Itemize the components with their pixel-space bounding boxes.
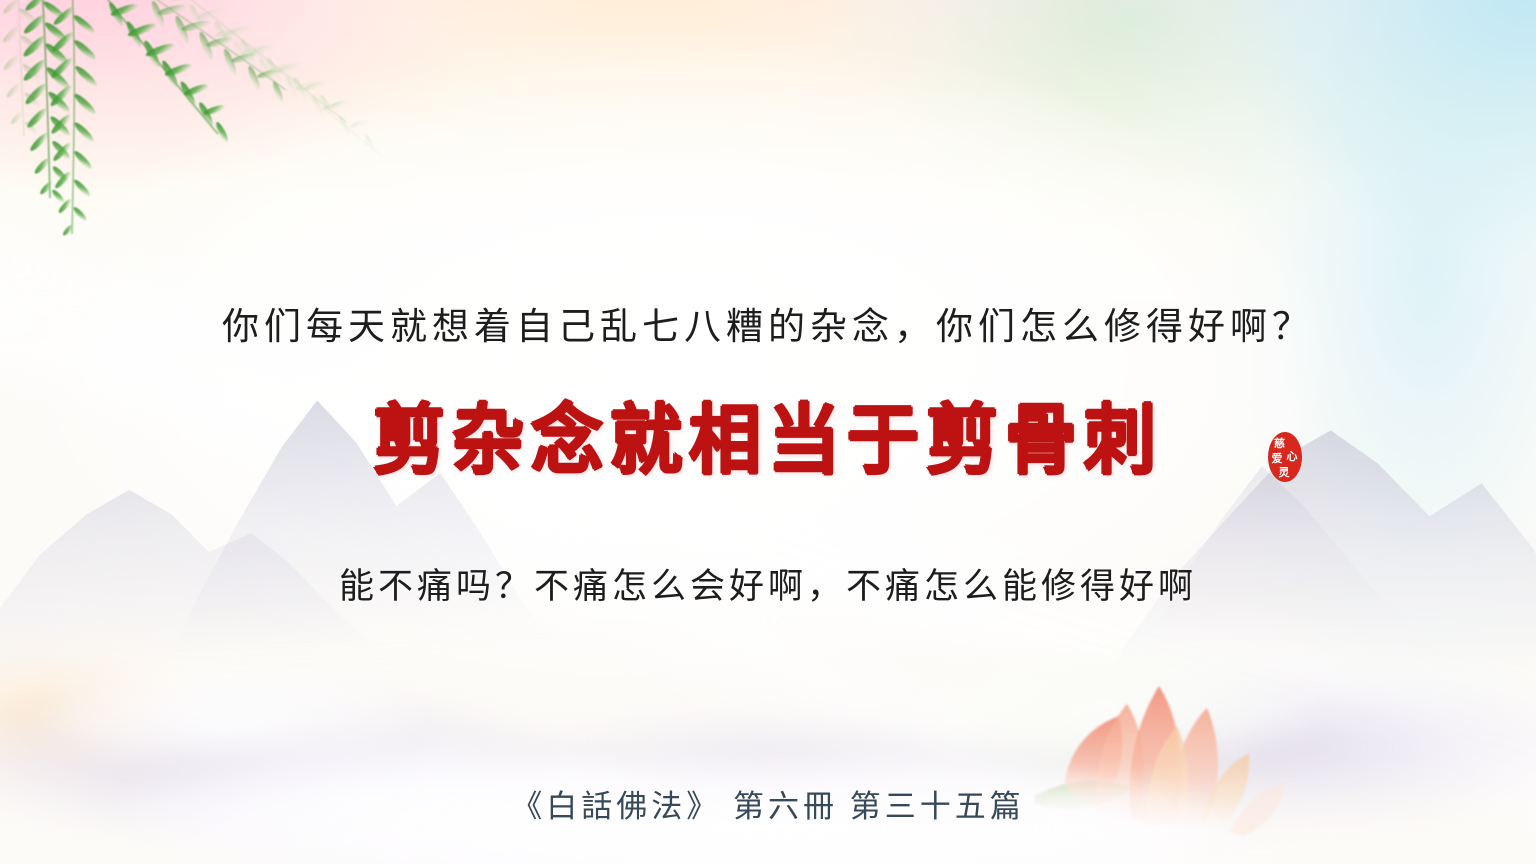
quote-line-top: 你们每天就想着自己乱七八糟的杂念，你们怎么修得好啊？ (0, 296, 1536, 350)
svg-text:慈: 慈 (1274, 436, 1285, 450)
svg-text:心: 心 (1287, 450, 1298, 463)
source-citation: 《白話佛法》 第六冊 第三十五篇 (0, 781, 1536, 826)
text-layer: 你们每天就想着自己乱七八糟的杂念，你们怎么修得好啊？ 剪杂念就相当于剪骨刺 慈 … (0, 0, 1536, 864)
svg-text:灵: 灵 (1279, 466, 1291, 479)
seal-stamp-icon: 慈 爱 心 灵 (1262, 427, 1308, 487)
headline-text: 剪杂念就相当于剪骨刺 (373, 402, 1163, 478)
poster-canvas: 你们每天就想着自己乱七八糟的杂念，你们怎么修得好啊？ 剪杂念就相当于剪骨刺 慈 … (0, 0, 1536, 864)
quote-line-bottom: 能不痛吗？不痛怎么会好啊，不痛怎么能修得好啊 (0, 558, 1536, 609)
svg-text:爱: 爱 (1272, 452, 1283, 465)
